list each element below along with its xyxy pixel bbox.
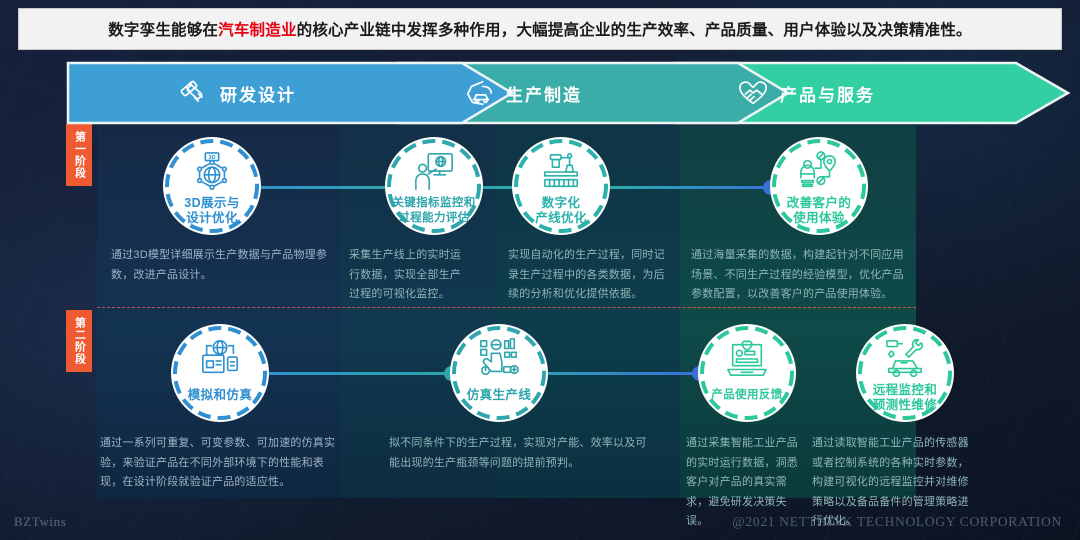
node-5-circle[interactable]: 模拟和仿真 — [171, 324, 269, 422]
node-1-ring — [163, 137, 261, 235]
dashed-ring-icon — [385, 137, 483, 235]
dashed-ring-icon — [856, 324, 954, 422]
node-5-desc: 通过一系列可重复、可变参数、可加速的仿真实验，来验证产品在不同外部环境下的性能和… — [100, 434, 342, 493]
dashed-ring-icon — [171, 324, 269, 422]
arrow-shape-1[interactable] — [68, 63, 512, 123]
arrow-shapes — [66, 61, 1072, 125]
phase-badge-2: 第二阶段 — [66, 310, 92, 372]
node-6-circle[interactable]: 仿真生产线 — [450, 324, 548, 422]
connector-3-4 — [598, 186, 778, 189]
node-7-circle[interactable]: 产品使用反馈 — [698, 324, 796, 422]
headline-prefix: 数字孪生能够在 — [108, 22, 218, 39]
node-4-circle[interactable]: 改善客户的 使用体验 — [770, 137, 868, 235]
dashed-ring-icon — [512, 137, 610, 235]
headline-highlight: 汽车制造业 — [218, 22, 297, 39]
right-watermark: @2021 NETTHINK TECHNOLOGY CORPORATION — [732, 514, 1062, 530]
dashed-ring-icon — [698, 324, 796, 422]
node-5-ring — [171, 324, 269, 422]
node-1-desc: 通过3D模型详细展示生产数据与产品物理参数，改进产品设计。 — [111, 246, 329, 285]
connector-5-6 — [248, 372, 448, 375]
headline-suffix: 的核心产业链中发挥多种作用，大幅提高企业的生产效率、产品质量、用户体验以及决策精… — [297, 22, 972, 39]
node-2-desc: 采集生产线上的实时运行数据，实现全部生产过程的可视化监控。 — [349, 246, 471, 305]
node-2-circle[interactable]: 关键指标监控和 过程能力评估 — [385, 137, 483, 235]
node-1-circle[interactable]: 3D 3D展示与 设计优化 — [163, 137, 261, 235]
node-3-desc: 实现自动化的生产过程，同时记录生产过程中的各类数据，为后续的分析和优化提供依据。 — [508, 246, 668, 305]
node-6-desc: 拟不同条件下的生产过程，实现对产能、效率以及可能出现的生产瓶颈等问题的提前预判。 — [389, 434, 651, 473]
node-6-ring — [450, 324, 548, 422]
node-4-ring — [770, 137, 868, 235]
node-8-ring — [856, 324, 954, 422]
node-2-ring — [385, 137, 483, 235]
slide-canvas: 数字孪生能够在汽车制造业的核心产业链中发挥多种作用，大幅提高企业的生产效率、产品… — [0, 0, 1080, 540]
dashed-ring-icon — [770, 137, 868, 235]
node-3-ring — [512, 137, 610, 235]
node-4-desc: 通过海量采集的数据，构建起针对不同应用场景、不同生产过程的经验模型，优化产品参数… — [691, 246, 906, 305]
node-3-circle[interactable]: 数字化 产线优化 — [512, 137, 610, 235]
headline-banner: 数字孪生能够在汽车制造业的核心产业链中发挥多种作用，大幅提高企业的生产效率、产品… — [18, 8, 1062, 50]
phase-divider — [97, 307, 916, 308]
node-7-ring — [698, 324, 796, 422]
stage-arrow-bar: 研发设计 生产制造 产品与服务 — [66, 61, 1072, 125]
node-8-circle[interactable]: 远程监控和 预测性维修 — [856, 324, 954, 422]
dashed-ring-icon — [450, 324, 548, 422]
left-watermark: BZTwins — [14, 514, 66, 530]
dashed-ring-icon — [163, 137, 261, 235]
headline-text: 数字孪生能够在汽车制造业的核心产业链中发挥多种作用，大幅提高企业的生产效率、产品… — [108, 18, 972, 40]
phase-badge-1: 第一阶段 — [66, 124, 92, 186]
